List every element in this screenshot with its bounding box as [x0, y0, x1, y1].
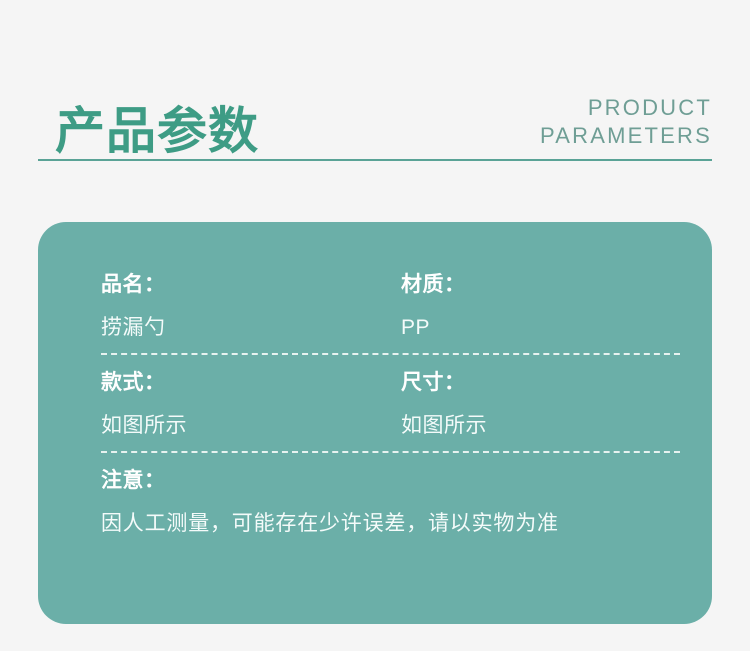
parameter-rows: 品名： 捞漏勺 材质： PP 款式： 如图所示 尺寸： 如图所示 注意： 因人工…: [101, 274, 680, 549]
parameter-cell-product-name: 品名： 捞漏勺: [101, 274, 401, 338]
parameter-label: 材质：: [401, 274, 701, 295]
parameter-cell-notice: 注意： 因人工测量，可能存在少许误差，请以实物为准: [101, 470, 680, 534]
parameter-value: 如图所示: [401, 415, 701, 436]
parameter-value: PP: [401, 317, 701, 338]
parameter-cell-size: 尺寸： 如图所示: [401, 372, 701, 436]
parameter-label: 品名：: [101, 274, 401, 295]
parameter-label: 款式：: [101, 372, 401, 393]
parameter-value: 捞漏勺: [101, 317, 401, 338]
page-title: 产品参数: [55, 106, 259, 156]
page-header: 产品参数 PRODUCT PARAMETERS: [38, 58, 712, 160]
parameter-value: 如图所示: [101, 415, 401, 436]
parameter-row: 品名： 捞漏勺 材质： PP: [101, 274, 680, 355]
parameter-cell-material: 材质： PP: [401, 274, 701, 338]
parameter-label: 尺寸：: [401, 372, 701, 393]
page-title-english-line-2: PARAMETERS: [540, 122, 712, 150]
page-title-english-line-1: PRODUCT: [540, 94, 712, 122]
parameter-label: 注意：: [101, 470, 680, 491]
page-title-english: PRODUCT PARAMETERS: [540, 94, 712, 150]
parameter-row: 注意： 因人工测量，可能存在少许误差，请以实物为准: [101, 453, 680, 549]
header-divider: [38, 159, 712, 161]
product-parameters-card: 品名： 捞漏勺 材质： PP 款式： 如图所示 尺寸： 如图所示 注意： 因人工…: [38, 222, 712, 624]
parameter-value: 因人工测量，可能存在少许误差，请以实物为准: [101, 513, 680, 534]
parameter-cell-style: 款式： 如图所示: [101, 372, 401, 436]
parameter-row: 款式： 如图所示 尺寸： 如图所示: [101, 355, 680, 453]
